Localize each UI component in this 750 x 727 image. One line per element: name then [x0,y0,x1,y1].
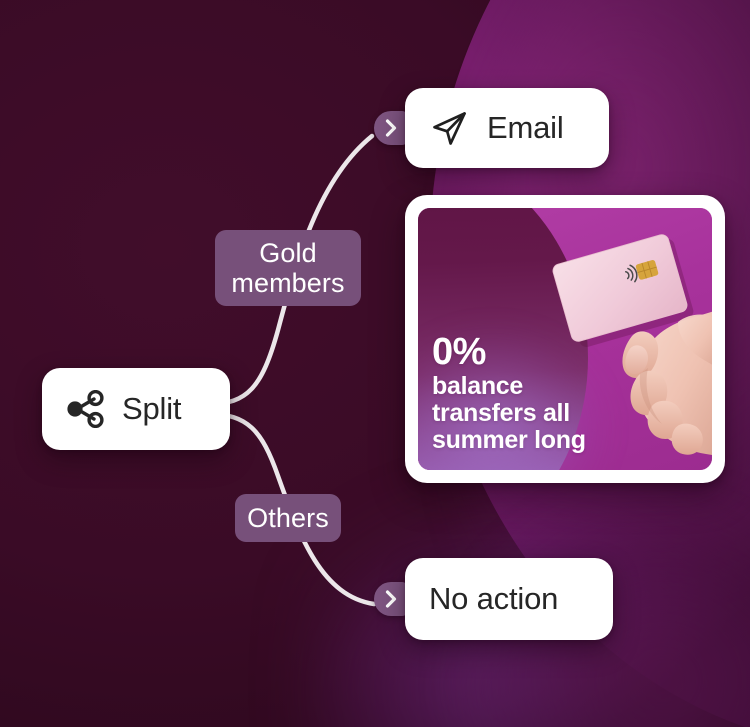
node-no-action-label: No action [429,581,558,617]
connector-chevron-email[interactable] [374,111,408,145]
node-email-label: Email [487,110,564,146]
node-no-action[interactable]: No action [405,558,613,640]
ad-subline-1: balance [432,373,586,400]
flow-canvas: Split Email No action Gold members Other… [0,0,750,727]
branch-label-line-1: Gold [231,238,344,268]
node-email[interactable]: Email [405,88,609,168]
chevron-right-icon [384,590,398,608]
node-split[interactable]: Split [42,368,230,450]
ad-subline-2: transfers all [432,400,586,427]
branch-label-line-2: members [231,268,344,298]
ad-subline-3: summer long [432,427,586,454]
connector-chevron-no-action[interactable] [374,582,408,616]
ad-preview-image: 0% balance transfers all summer long [418,208,712,470]
branch-label-gold-members[interactable]: Gold members [215,230,361,306]
paper-plane-icon [429,108,469,148]
split-share-icon [64,390,106,428]
chevron-right-icon [384,119,398,137]
ad-preview-card[interactable]: 0% balance transfers all summer long [405,195,725,483]
node-split-label: Split [122,391,181,427]
ad-copy: 0% balance transfers all summer long [432,333,586,454]
ad-headline: 0% [432,333,586,371]
branch-label-others[interactable]: Others [235,494,341,542]
